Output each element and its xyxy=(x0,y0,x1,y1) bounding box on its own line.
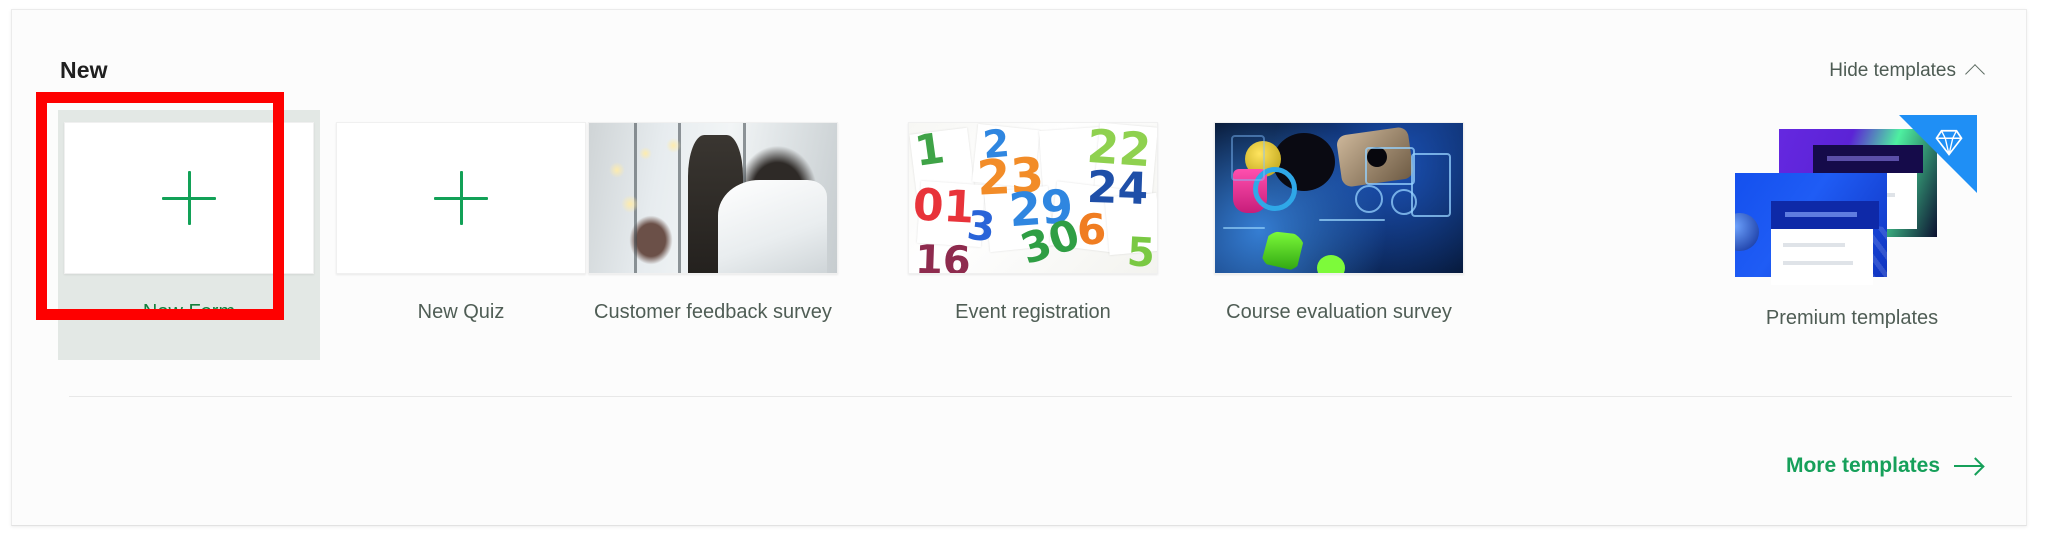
person-foreground xyxy=(718,180,827,273)
event-registration-thumbnail: 1 22 23 24 01 29 3 6 30 16 5 2 xyxy=(908,122,1158,274)
chevron-up-icon xyxy=(1965,64,1985,84)
panel-header: New Hide templates xyxy=(12,10,2026,102)
tile-label-event-registration: Event registration xyxy=(955,300,1111,325)
diamond-icon xyxy=(1934,127,1964,157)
tile-label-premium-templates: Premium templates xyxy=(1766,306,1938,331)
tile-thumb-wrap xyxy=(1214,122,1464,274)
more-templates-link[interactable]: More templates xyxy=(1786,454,1982,478)
neon-chalkboard-photo xyxy=(1215,123,1463,273)
office-photo xyxy=(589,123,837,273)
premium-card-front-header xyxy=(1771,201,1879,229)
hide-templates-label: Hide templates xyxy=(1829,60,1956,82)
customer-feedback-survey-thumbnail xyxy=(588,122,838,274)
course-evaluation-survey-thumbnail xyxy=(1214,122,1464,274)
tile-label-course-evaluation-survey: Course evaluation survey xyxy=(1226,300,1452,325)
premium-templates-thumbnail xyxy=(1727,115,1977,285)
tile-label-customer-feedback-survey: Customer feedback survey xyxy=(594,300,832,325)
tile-course-evaluation-survey[interactable]: Course evaluation survey xyxy=(1208,110,1470,360)
tile-thumb-wrap: 1 22 23 24 01 29 3 6 30 16 5 2 xyxy=(908,122,1158,274)
tile-thumb-wrap xyxy=(336,122,586,274)
calendar-numbers-photo: 1 22 23 24 01 29 3 6 30 16 5 2 xyxy=(909,123,1157,273)
new-quiz-thumbnail xyxy=(336,122,586,274)
hide-templates-button[interactable]: Hide templates xyxy=(1829,60,1982,82)
forms-new-templates-screen: New Hide templates New Form xyxy=(0,0,2048,544)
tile-thumb-wrap xyxy=(588,122,838,274)
tile-thumb-wrap xyxy=(1712,110,1992,290)
more-templates-label: More templates xyxy=(1786,454,1940,478)
tile-new-quiz[interactable]: New Quiz xyxy=(330,110,592,360)
plus-icon xyxy=(434,171,488,225)
template-tile-strip: New Form New Quiz xyxy=(12,110,2026,380)
tile-event-registration[interactable]: 1 22 23 24 01 29 3 6 30 16 5 2 xyxy=(902,110,1164,360)
new-form-thumbnail xyxy=(64,122,314,274)
plus-icon xyxy=(162,171,216,225)
tile-premium-templates[interactable]: Premium templates xyxy=(1702,110,2002,360)
tile-new-form[interactable]: New Form xyxy=(58,110,320,360)
section-divider xyxy=(69,396,2012,397)
page-title: New xyxy=(60,57,108,84)
arrow-right-icon xyxy=(1954,465,1982,467)
tile-customer-feedback-survey[interactable]: Customer feedback survey xyxy=(582,110,844,360)
tile-label-new-quiz: New Quiz xyxy=(418,300,505,325)
tile-label-new-form: New Form xyxy=(143,300,235,325)
tile-thumb-wrap xyxy=(64,122,314,274)
new-templates-panel: New Hide templates New Form xyxy=(11,9,2027,526)
